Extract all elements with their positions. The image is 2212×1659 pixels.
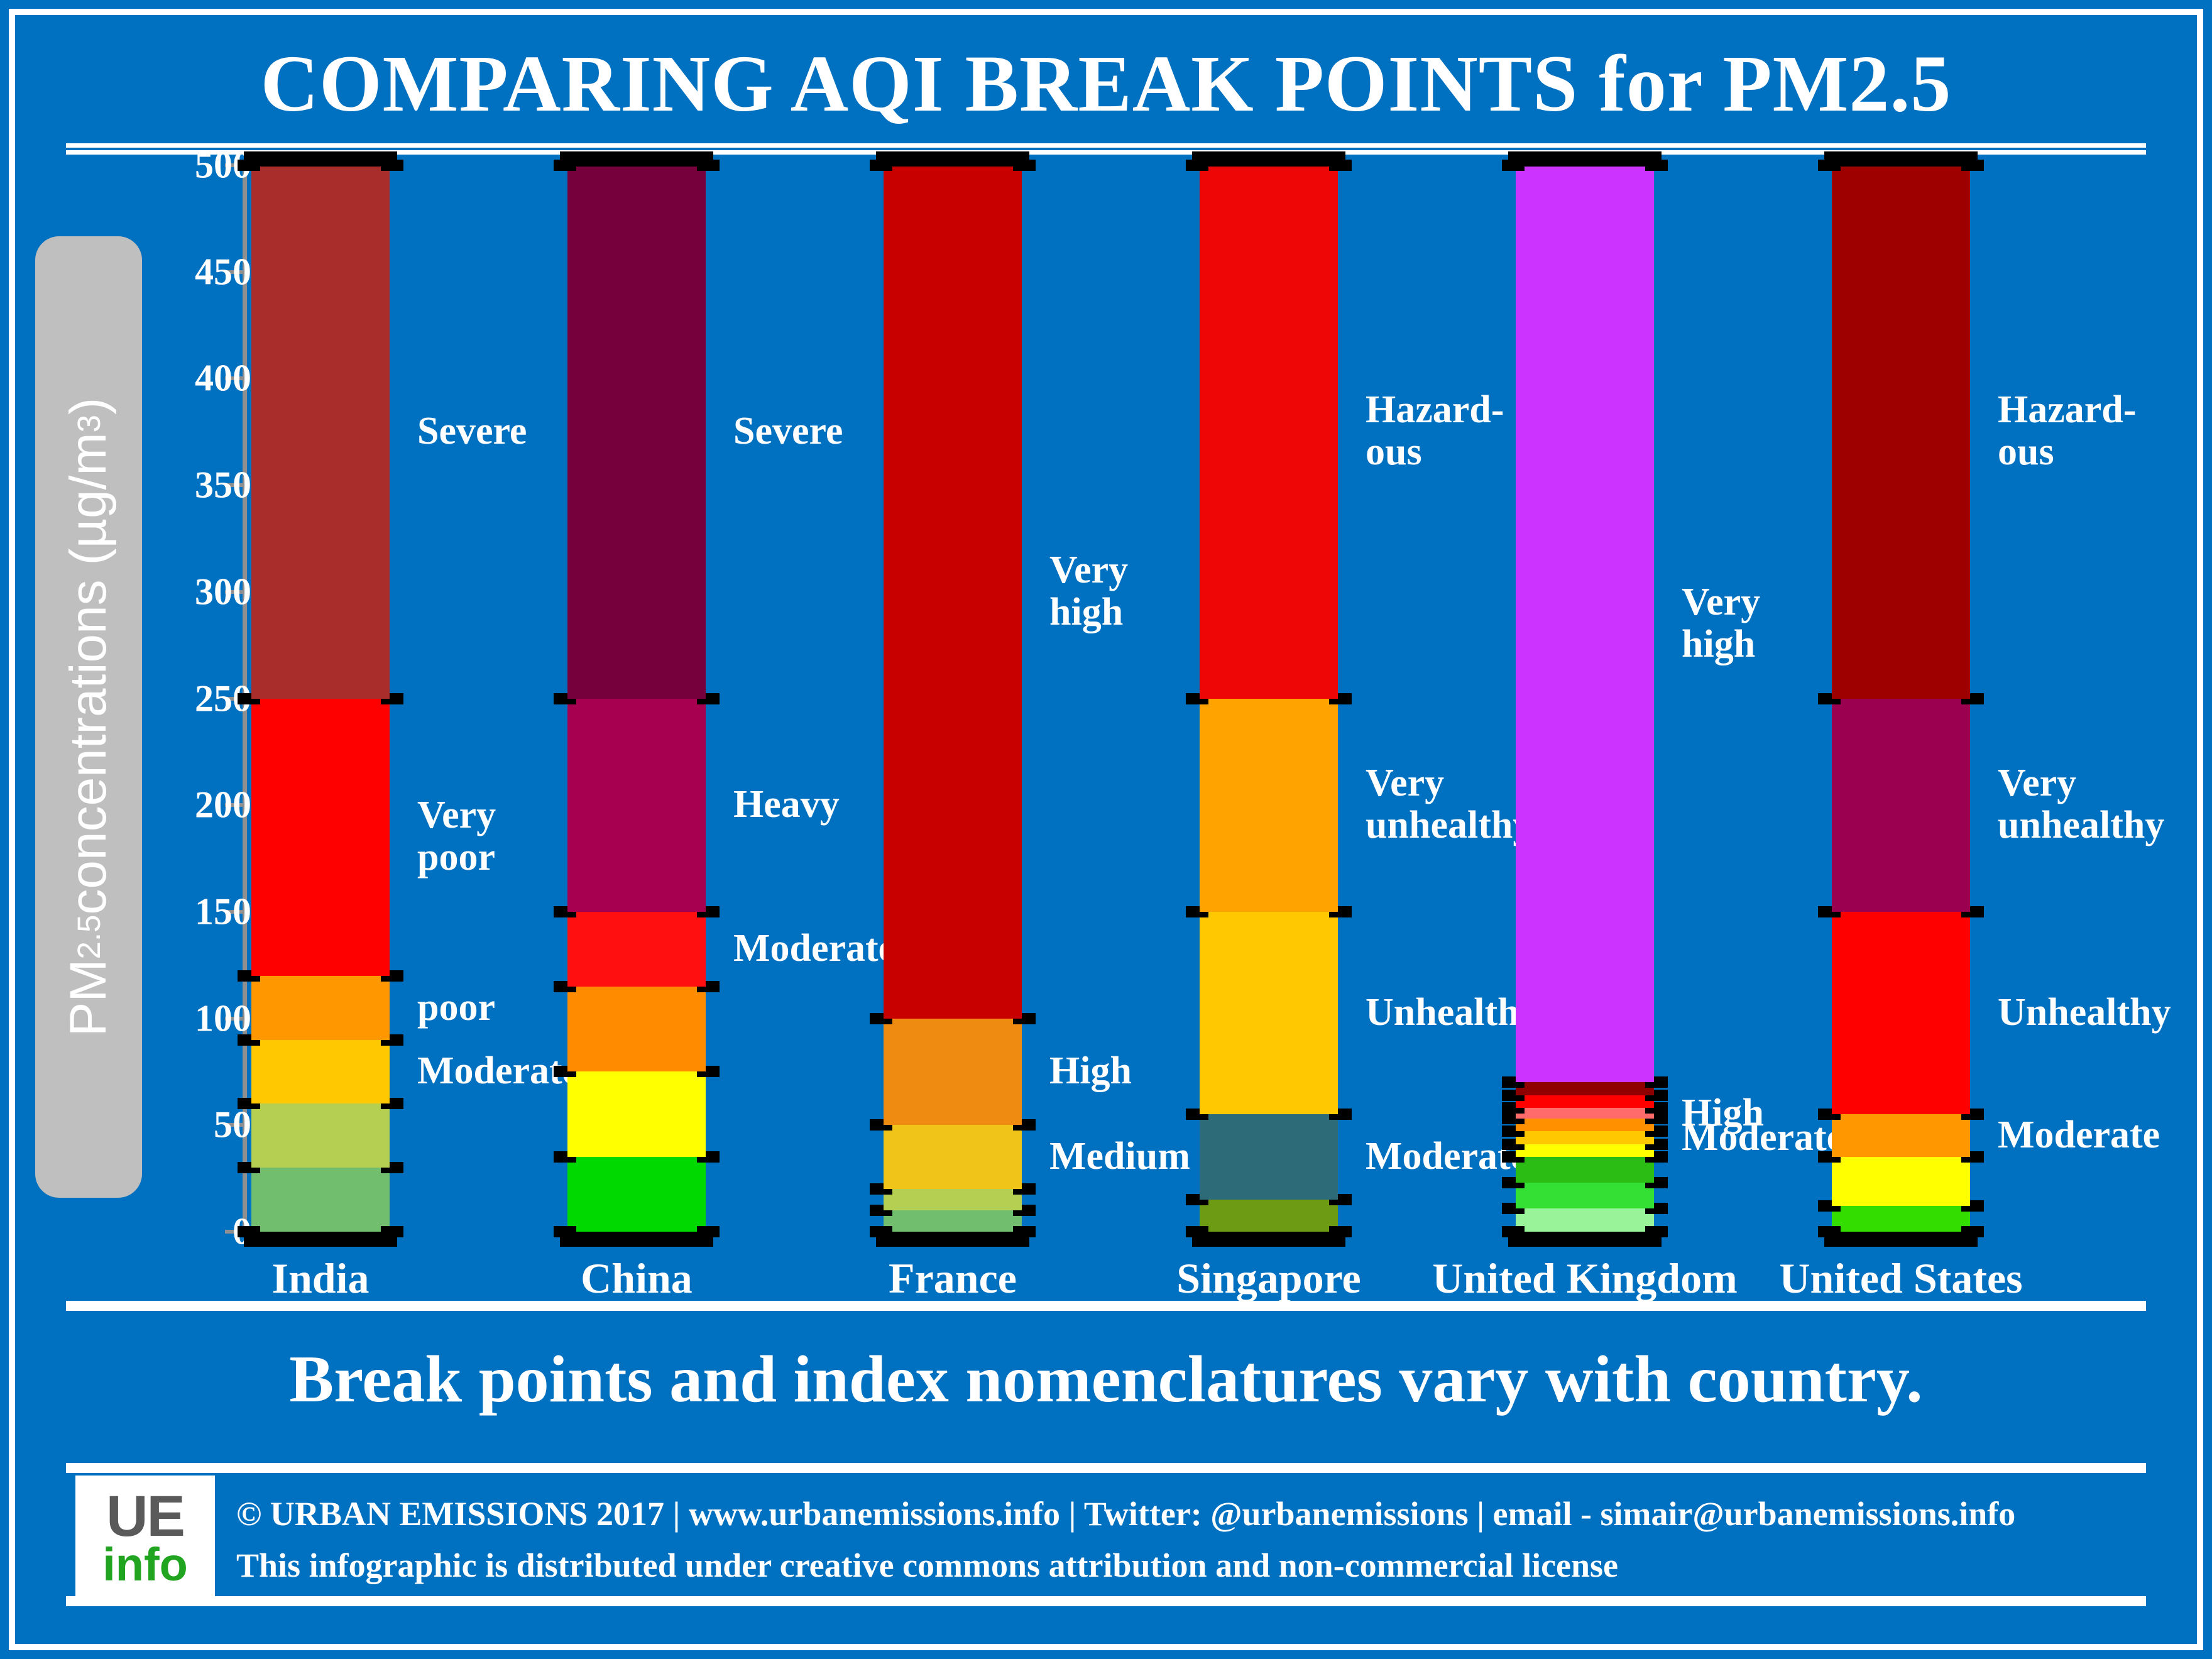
band-label: poor bbox=[417, 987, 495, 1029]
bar-segment[interactable] bbox=[567, 165, 706, 699]
tagline: Break points and index nomenclatures var… bbox=[0, 1341, 2212, 1418]
bar-bottom-cap bbox=[1192, 1232, 1345, 1247]
stacked-bar[interactable] bbox=[1200, 165, 1338, 1232]
bar-segment[interactable] bbox=[1832, 1114, 1970, 1157]
bar-segment[interactable] bbox=[567, 1157, 706, 1232]
bar-bottom-cap bbox=[244, 1232, 397, 1247]
band-label: Medium bbox=[1049, 1136, 1190, 1178]
band-label: Severe bbox=[733, 410, 843, 452]
bar-segment[interactable] bbox=[251, 1103, 390, 1168]
logo-ue-text: UE bbox=[106, 1490, 184, 1543]
bar-segment[interactable] bbox=[1200, 699, 1338, 912]
bar-segment[interactable] bbox=[567, 912, 706, 987]
bar-top-cap bbox=[1192, 151, 1345, 167]
urban-emissions-logo: UE info bbox=[75, 1476, 215, 1601]
bar-segment[interactable] bbox=[884, 1125, 1022, 1189]
bar-top-cap bbox=[1824, 151, 1978, 167]
bar-segment[interactable] bbox=[1516, 1119, 1654, 1131]
bar-segment[interactable] bbox=[1200, 165, 1338, 699]
bar-segment[interactable] bbox=[884, 1019, 1022, 1125]
country-label: India bbox=[157, 1254, 484, 1303]
band-label: High bbox=[1049, 1050, 1132, 1092]
bar-segment[interactable] bbox=[1832, 165, 1970, 699]
bar-segment[interactable] bbox=[1516, 1144, 1654, 1157]
bar-segment[interactable] bbox=[884, 1210, 1022, 1232]
bar-top-cap bbox=[244, 151, 397, 167]
divider-middle bbox=[66, 1301, 2146, 1311]
band-label: Very high bbox=[1049, 549, 1128, 633]
footer: UE info © URBAN EMISSIONS 2017 | www.urb… bbox=[75, 1482, 2137, 1595]
bar-segment[interactable] bbox=[1516, 1208, 1654, 1232]
band-label: Unhealthy bbox=[1998, 992, 2171, 1034]
logo-info-text: info bbox=[102, 1543, 188, 1587]
bar-bottom-cap bbox=[560, 1232, 713, 1247]
bar-segment[interactable] bbox=[1516, 1131, 1654, 1144]
bar-segment[interactable] bbox=[1200, 1200, 1338, 1232]
bar-segment[interactable] bbox=[251, 976, 390, 1040]
band-label: Hazard- ous bbox=[1998, 389, 2136, 473]
footer-credit-line: © URBAN EMISSIONS 2017 | www.urbanemissi… bbox=[236, 1488, 2015, 1540]
bar-top-cap bbox=[876, 151, 1029, 167]
bar-segment[interactable] bbox=[567, 987, 706, 1072]
bar-segment[interactable] bbox=[1832, 912, 1970, 1114]
bar-segment[interactable] bbox=[1516, 1183, 1654, 1208]
bar-segment[interactable] bbox=[251, 165, 390, 699]
bar-bottom-cap bbox=[876, 1232, 1029, 1247]
band-label: Very high bbox=[1682, 581, 1760, 665]
bar-segment[interactable] bbox=[251, 699, 390, 976]
divider-footer-bottom bbox=[66, 1596, 2146, 1606]
bar-segment[interactable] bbox=[884, 1189, 1022, 1210]
stacked-bar[interactable] bbox=[1516, 165, 1654, 1232]
stacked-bar[interactable] bbox=[1832, 165, 1970, 1232]
band-label: Unhealthy bbox=[1366, 992, 1539, 1034]
footer-license-line: This infographic is distributed under cr… bbox=[236, 1540, 2015, 1591]
band-label: High bbox=[1682, 1092, 1764, 1134]
country-label: United Kingdom bbox=[1421, 1254, 1748, 1303]
stacked-bar[interactable] bbox=[884, 165, 1022, 1232]
band-label: Moderate bbox=[1998, 1114, 2160, 1156]
stacked-bar[interactable] bbox=[567, 165, 706, 1232]
band-label: Very poor bbox=[417, 794, 496, 879]
bar-top-cap bbox=[1508, 151, 1662, 167]
bar-segment[interactable] bbox=[1832, 1157, 1970, 1206]
stacked-bar[interactable] bbox=[251, 165, 390, 1232]
country-label: Singapore bbox=[1105, 1254, 1432, 1303]
bar-top-cap bbox=[560, 151, 713, 167]
bar-segment[interactable] bbox=[1516, 1157, 1654, 1183]
bar-bottom-cap bbox=[1824, 1232, 1978, 1247]
bar-segment[interactable] bbox=[1832, 1206, 1970, 1232]
infographic-poster: COMPARING AQI BREAK POINTS for PM2.5 PM2… bbox=[0, 0, 2212, 1659]
bar-segment[interactable] bbox=[1516, 165, 1654, 1082]
band-label: Hazard- ous bbox=[1366, 389, 1504, 473]
footer-text: © URBAN EMISSIONS 2017 | www.urbanemissi… bbox=[236, 1488, 2015, 1591]
bar-segment[interactable] bbox=[251, 1040, 390, 1104]
bar-segment[interactable] bbox=[567, 1071, 706, 1157]
bar-segment[interactable] bbox=[1516, 1082, 1654, 1095]
band-label: Heavy bbox=[733, 784, 840, 826]
bar-segment[interactable] bbox=[567, 699, 706, 912]
band-label: Very unhealthy bbox=[1998, 762, 2164, 846]
band-label: Moderate bbox=[733, 928, 895, 970]
band-label: Very unhealthy bbox=[1366, 762, 1532, 846]
country-label: China bbox=[473, 1254, 800, 1303]
band-label: Severe bbox=[417, 410, 527, 452]
bar-segment[interactable] bbox=[1516, 1095, 1654, 1108]
country-label: United States bbox=[1738, 1254, 2064, 1303]
country-label: France bbox=[789, 1254, 1116, 1303]
bar-segment[interactable] bbox=[1832, 699, 1970, 912]
divider-bottom bbox=[66, 1463, 2146, 1473]
bar-bottom-cap bbox=[1508, 1232, 1662, 1247]
bar-segment[interactable] bbox=[1200, 912, 1338, 1114]
bar-segment[interactable] bbox=[884, 165, 1022, 1019]
bar-segment[interactable] bbox=[1200, 1114, 1338, 1200]
bar-segment[interactable] bbox=[251, 1168, 390, 1232]
bar-segment[interactable] bbox=[1516, 1108, 1654, 1119]
